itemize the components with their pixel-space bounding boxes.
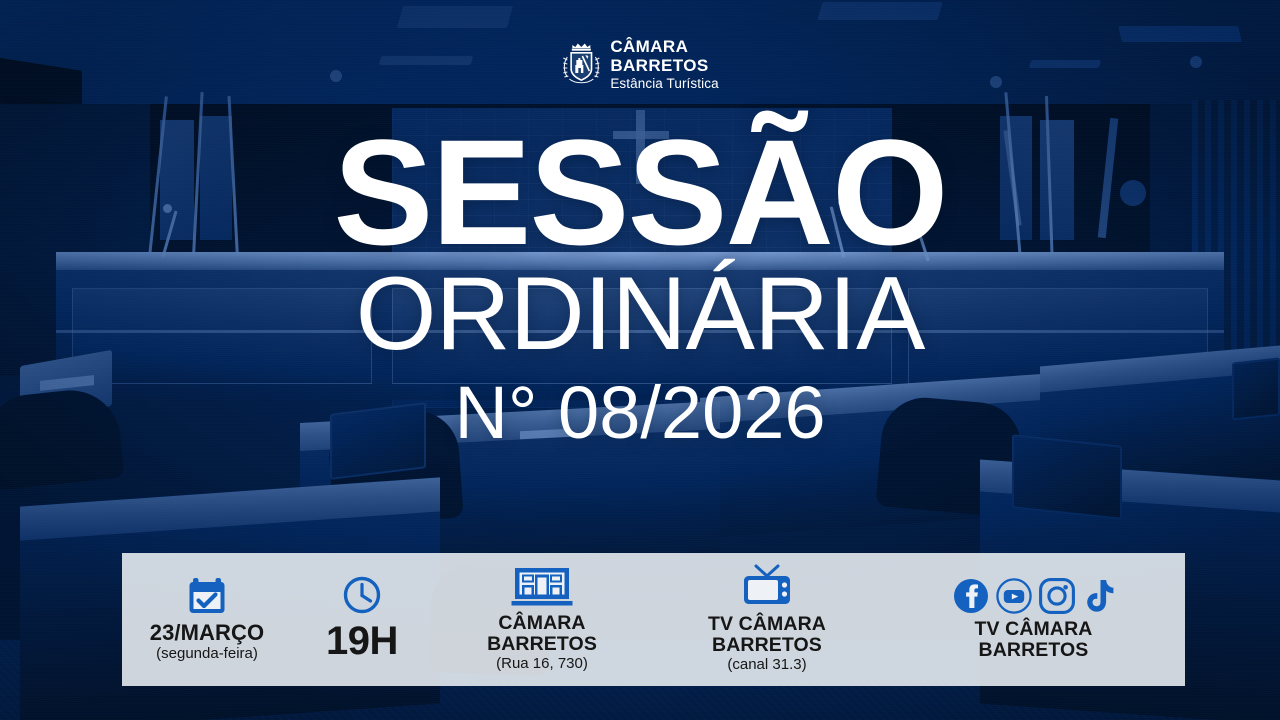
tv-line-1: TV CÂMARA: [708, 614, 826, 635]
info-cell-date: 23/MARÇO (segunda-feira): [122, 553, 292, 686]
clock-icon: [341, 574, 383, 616]
youtube-icon[interactable]: [995, 577, 1033, 615]
brand-line-1: CÂMARA: [610, 38, 718, 55]
page-subtitle: ORDINÁRIA: [0, 262, 1280, 366]
info-cell-time: 19H: [292, 553, 432, 686]
facebook-icon[interactable]: [952, 577, 990, 615]
building-icon: [511, 565, 573, 609]
coat-of-arms-icon: [561, 41, 601, 87]
tv-channel: (canal 31.3): [708, 657, 826, 673]
session-number: N° 08/2026: [0, 376, 1280, 450]
date-value: 23/MARÇO: [150, 621, 265, 644]
info-cell-social: TV CÂMARA BARRETOS: [882, 553, 1185, 686]
social-line-1: TV CÂMARA: [975, 619, 1093, 640]
brand-line-3: Estância Turística: [610, 77, 718, 91]
place-line-2: BARRETOS: [487, 634, 597, 655]
social-line-2: BARRETOS: [975, 640, 1093, 661]
page-title: SESSÃO: [0, 120, 1280, 264]
time-value: 19H: [326, 620, 398, 662]
poster-titles: SESSÃO ORDINÁRIA N° 08/2026: [0, 120, 1280, 450]
session-announcement-poster: CÂMARA BARRETOS Estância Turística SESSÃ…: [0, 0, 1280, 720]
info-cell-tv: TV CÂMARA BARRETOS (canal 31.3): [652, 553, 882, 686]
social-icon-row: [952, 577, 1115, 615]
brand-header: CÂMARA BARRETOS Estância Turística: [561, 38, 718, 91]
television-icon: [736, 564, 798, 610]
session-info-bar: 23/MARÇO (segunda-feira) 19H: [122, 553, 1185, 686]
calendar-check-icon: [186, 575, 228, 617]
tv-line-2: BARRETOS: [708, 635, 826, 656]
tiktok-icon[interactable]: [1081, 577, 1115, 615]
place-address: (Rua 16, 730): [487, 656, 597, 672]
date-weekday: (segunda-feira): [150, 646, 265, 662]
brand-line-2: BARRETOS: [610, 57, 718, 74]
instagram-icon[interactable]: [1038, 577, 1076, 615]
info-cell-place: CÂMARA BARRETOS (Rua 16, 730): [432, 553, 652, 686]
place-line-1: CÂMARA: [487, 613, 597, 634]
